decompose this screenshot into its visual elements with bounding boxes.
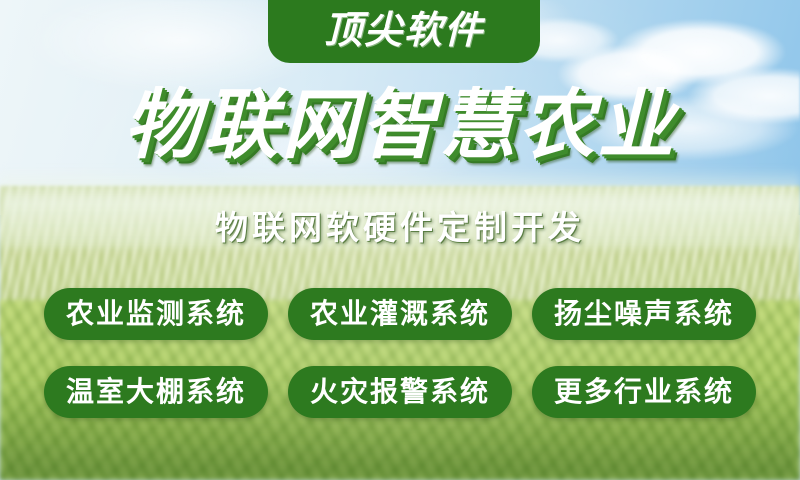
service-pill-label: 火灾报警系统	[310, 378, 490, 406]
service-pill-label: 农业监测系统	[66, 300, 246, 328]
service-pill-agriculture-irrigation[interactable]: 农业灌溉系统	[288, 288, 512, 340]
service-pill-label: 农业灌溉系统	[310, 300, 490, 328]
service-pill-label: 更多行业系统	[554, 378, 734, 406]
service-pill-dust-noise[interactable]: 扬尘噪声系统	[532, 288, 756, 340]
service-pill-label: 温室大棚系统	[66, 378, 246, 406]
promo-banner: 顶尖软件 物联网智慧农业 物联网软硬件定制开发 农业监测系统 农业灌溉系统 扬尘…	[0, 0, 800, 480]
service-pill-label: 扬尘噪声系统	[554, 300, 734, 328]
brand-badge: 顶尖软件	[268, 0, 540, 63]
service-pill-grid: 农业监测系统 农业灌溉系统 扬尘噪声系统 温室大棚系统 火灾报警系统 更多行业系…	[44, 288, 756, 418]
service-pill-greenhouse[interactable]: 温室大棚系统	[44, 366, 268, 418]
service-pill-agriculture-monitoring[interactable]: 农业监测系统	[44, 288, 268, 340]
banner-content: 顶尖软件 物联网智慧农业 物联网软硬件定制开发 农业监测系统 农业灌溉系统 扬尘…	[0, 0, 800, 480]
headline-subtitle: 物联网软硬件定制开发	[0, 208, 800, 248]
service-pill-fire-alarm[interactable]: 火灾报警系统	[288, 366, 512, 418]
service-pill-more-industries[interactable]: 更多行业系统	[532, 366, 756, 418]
brand-badge-label: 顶尖软件	[324, 12, 484, 52]
headline-title: 物联网智慧农业	[0, 88, 800, 164]
